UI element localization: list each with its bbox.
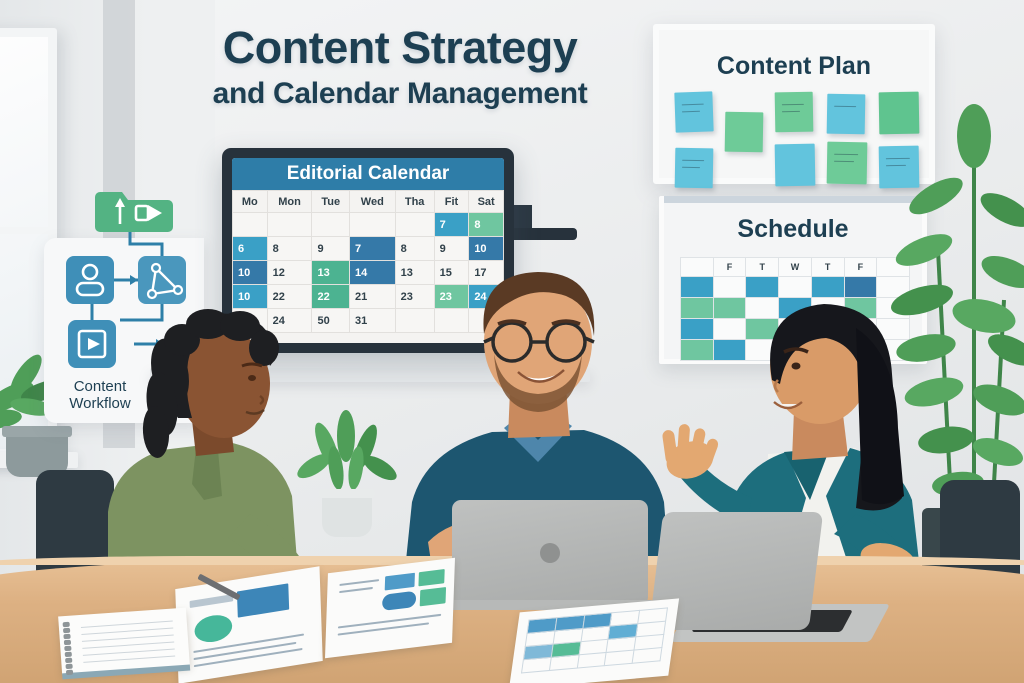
notebook-rule-line — [81, 628, 173, 635]
notebook-spiral-coil — [65, 664, 72, 669]
calendar-row: 78 — [233, 213, 504, 237]
window-mullion — [0, 227, 48, 234]
sticky-note[interactable] — [674, 91, 713, 132]
notebook-rule-line — [82, 635, 174, 642]
notebook-spiral-coil — [64, 646, 71, 651]
calendar-day-cell[interactable]: 8 — [267, 237, 312, 261]
sticky-note-line — [834, 154, 858, 156]
sticky-note[interactable] — [675, 148, 714, 189]
notebook-spiral-coil — [66, 670, 73, 675]
media-folder-node — [95, 192, 173, 232]
calendar-day-cell[interactable]: 8 — [469, 213, 504, 237]
calendar-day-cell[interactable] — [267, 213, 312, 237]
doc-right-calendar-cell — [577, 652, 607, 668]
sticky-note[interactable] — [775, 92, 814, 133]
content-plan-title: Content Plan — [659, 52, 929, 81]
schedule-weekday-header: F — [713, 258, 746, 277]
document-right[interactable] — [509, 598, 679, 683]
schedule-weekday-header: F — [844, 258, 877, 277]
doc-mid-pill — [382, 591, 416, 611]
sticky-note-line — [682, 167, 700, 169]
doc-right-calendar-grid — [521, 607, 668, 673]
title-subtitle: and Calendar Management — [160, 77, 640, 111]
doc-left-pie-chart — [194, 613, 232, 645]
sticky-note-line — [782, 104, 804, 106]
doc-right-calendar-cell — [522, 657, 552, 673]
sticky-note[interactable] — [725, 112, 764, 153]
notebook-rule-line — [83, 648, 175, 655]
doc-left-chart-block — [237, 583, 289, 617]
notebook-spiral-coil — [64, 640, 71, 645]
sticky-note-line — [682, 111, 700, 113]
notebook-spiral-coil — [65, 658, 72, 663]
schedule-weekday-header: T — [811, 258, 844, 277]
sticky-note-line — [782, 111, 800, 113]
document-mid[interactable] — [325, 558, 455, 659]
notebook[interactable] — [58, 608, 190, 675]
calendar-weekday-header: Sat — [469, 191, 504, 213]
title-main: Content Strategy — [160, 24, 640, 71]
calendar-weekday-header: Tha — [395, 191, 434, 213]
calendar-day-cell[interactable]: 21 — [349, 285, 395, 309]
calendar-day-cell[interactable]: 31 — [349, 309, 395, 333]
office-scene-illustration: Content Strategy and Calendar Management… — [0, 0, 1024, 683]
calendar-day-cell[interactable]: 10 — [233, 261, 268, 285]
notebook-rule-line — [83, 655, 175, 662]
calendar-day-cell[interactable]: 6 — [233, 237, 268, 261]
calendar-weekday-header: Wed — [349, 191, 395, 213]
doc-left-header-bar — [190, 594, 234, 608]
doc-right-calendar-cell — [632, 648, 662, 664]
doc-mid-chart-block — [418, 569, 444, 586]
notebook-spiral-coil — [65, 652, 72, 657]
sticky-note[interactable] — [827, 94, 866, 135]
calendar-weekday-header: Fit — [434, 191, 469, 213]
sticky-note-line — [682, 160, 704, 162]
share-node — [138, 256, 186, 304]
schedule-title: Schedule — [664, 215, 922, 244]
calendar-day-cell[interactable]: 14 — [349, 261, 395, 285]
calendar-weekday-header: Mo — [233, 191, 268, 213]
user-node — [66, 256, 114, 304]
calendar-day-cell[interactable]: 13 — [312, 261, 350, 285]
sticky-note[interactable] — [775, 144, 816, 187]
schedule-weekday-header — [681, 258, 714, 277]
schedule-weekday-header: T — [746, 258, 779, 277]
notebook-rule-line — [81, 621, 173, 628]
doc-mid-chart-block — [420, 587, 446, 606]
notebook-rule-line — [82, 642, 174, 649]
laptop-logo-icon — [540, 543, 560, 563]
sticky-note-line — [682, 104, 704, 106]
notebook-spiral-coil — [63, 628, 70, 633]
editorial-calendar-header: Editorial Calendar — [232, 158, 504, 190]
schedule-weekday-header: W — [779, 258, 812, 277]
calendar-day-cell[interactable] — [349, 213, 395, 237]
person-left-figure — [100, 300, 330, 600]
calendar-weekday-header: Tue — [312, 191, 350, 213]
doc-mid-chart-block — [385, 573, 415, 591]
calendar-day-cell[interactable] — [395, 213, 434, 237]
sticky-note[interactable] — [827, 142, 868, 185]
doc-right-calendar-cell — [605, 650, 635, 666]
calendar-day-cell[interactable]: 12 — [267, 261, 312, 285]
person-left — [100, 300, 330, 600]
doc-mid-text-line — [339, 587, 373, 593]
calendar-day-cell[interactable]: 7 — [434, 213, 469, 237]
calendar-day-cell[interactable]: 7 — [349, 237, 395, 261]
doc-right-calendar-cell — [549, 655, 579, 671]
calendar-day-cell[interactable]: 9 — [312, 237, 350, 261]
sticky-note-line — [834, 161, 854, 163]
calendar-day-cell[interactable] — [233, 213, 268, 237]
calendar-weekday-header: Mon — [267, 191, 312, 213]
notebook-spiral-coil — [63, 634, 70, 639]
calendar-day-cell[interactable] — [312, 213, 350, 237]
laptop-center[interactable] — [452, 500, 648, 606]
notebook-spiral-coil — [63, 622, 70, 627]
sticky-note-line — [834, 106, 856, 108]
page-title: Content Strategy and Calendar Management — [160, 24, 640, 111]
doc-mid-text-line — [339, 579, 379, 586]
